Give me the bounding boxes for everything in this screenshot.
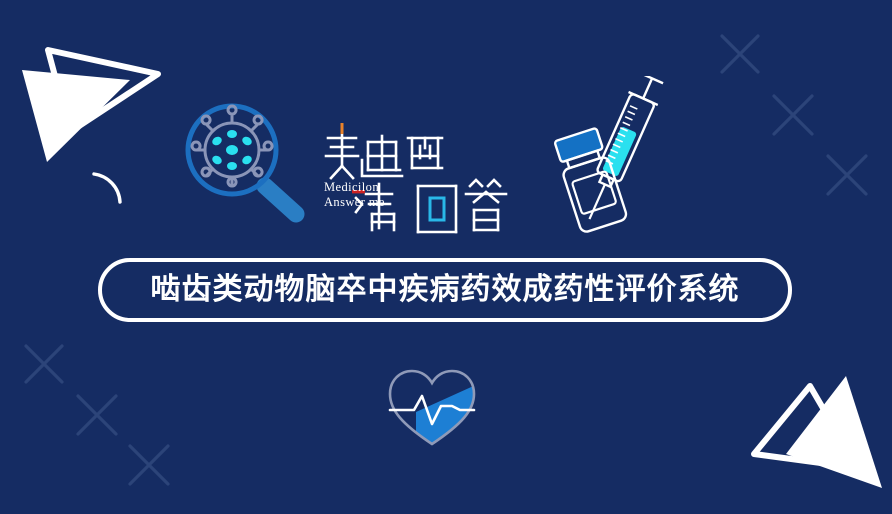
x-mark-icon	[714, 28, 766, 80]
x-mark-icon	[18, 338, 70, 390]
medicilon-logo: Medicilon Answer me	[322, 118, 522, 238]
logo-orange-accent	[341, 123, 344, 134]
x-mark-icon	[820, 148, 874, 202]
logo-latin-line-2: Answer me	[324, 195, 385, 210]
x-mark-icon	[766, 88, 820, 142]
logo-latin-line-1: Medicilon	[324, 180, 385, 195]
poster-canvas: Medicilon Answer me	[0, 0, 892, 514]
triangle-pair-bottom-right	[742, 358, 892, 514]
syringe-vial-group	[552, 76, 678, 238]
logo-latin-text: Medicilon Answer me	[324, 180, 385, 210]
logo-glyphs	[322, 118, 522, 238]
page-title: 啮齿类动物脑卒中疾病药效成药性评价系统	[151, 275, 740, 305]
x-mark-icon	[122, 438, 176, 492]
x-mark-icon	[70, 388, 124, 442]
heart-pulse-icon	[386, 366, 478, 448]
magnifier-virus-icon	[176, 96, 308, 226]
title-banner: 啮齿类动物脑卒中疾病药效成药性评价系统	[98, 258, 792, 322]
logo-cyan-accent	[430, 198, 444, 220]
arc-decoration	[86, 162, 146, 224]
